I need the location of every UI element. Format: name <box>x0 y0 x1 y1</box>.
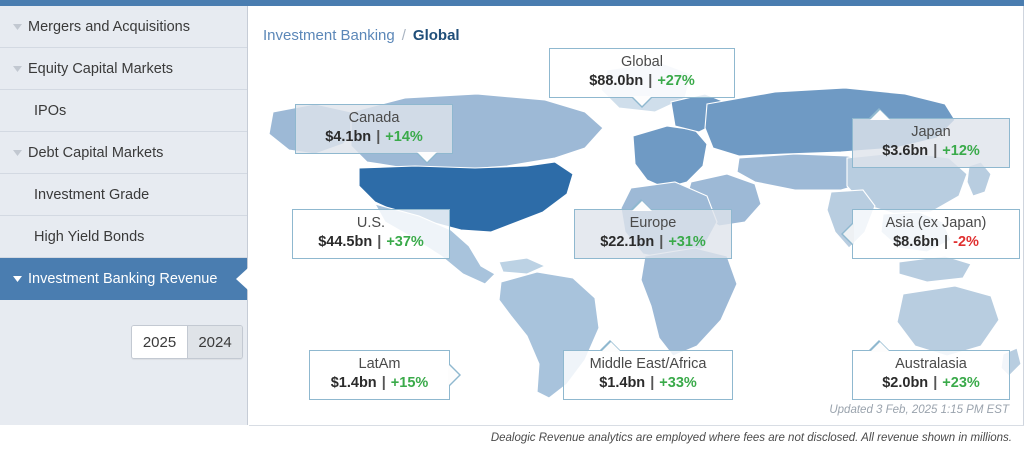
callout-change: +14% <box>385 129 423 145</box>
callout-change: +31% <box>668 234 706 250</box>
callout-region-name: Middle East/Africa <box>578 356 718 375</box>
callout-value: $88.0bn <box>589 73 643 89</box>
breadcrumb-current: Global <box>413 27 460 44</box>
sidebar-item-label: Investment Banking Revenue <box>26 271 217 287</box>
callout-us[interactable]: U.S. $44.5bn | +37% <box>292 209 450 259</box>
callout-region-name: Canada <box>310 110 438 129</box>
callout-latam[interactable]: LatAm $1.4bn | +15% <box>309 350 450 400</box>
callout-pointer-inner <box>632 201 652 211</box>
callout-pointer-inner <box>632 96 652 106</box>
callout-asia-ex-japan[interactable]: Asia (ex Japan) $8.6bn | -2% <box>852 209 1020 259</box>
callout-change: -2% <box>953 234 979 250</box>
callout-region-name: U.S. <box>307 215 435 234</box>
callout-separator: | <box>932 375 938 391</box>
sidebar-item-debt-capital-markets[interactable]: Debt Capital Markets <box>0 132 247 174</box>
chevron-down-icon <box>8 24 26 30</box>
callout-pointer-inner <box>870 110 890 120</box>
footer-note: Dealogic Revenue analytics are employed … <box>491 432 1012 444</box>
callout-separator: | <box>375 129 381 145</box>
callout-separator: | <box>376 234 382 250</box>
callout-value: $22.1bn <box>600 234 654 250</box>
sidebar-item-label: Equity Capital Markets <box>26 61 173 77</box>
updated-timestamp: Updated 3 Feb, 2025 1:15 PM EST <box>829 404 1009 416</box>
callout-separator: | <box>658 234 664 250</box>
callout-change: +23% <box>942 375 980 391</box>
sidebar-item-ipos[interactable]: IPOs <box>0 90 247 132</box>
map-region-western-europe <box>633 126 707 188</box>
chevron-down-icon <box>8 66 26 72</box>
sidebar-item-high-yield-bonds[interactable]: High Yield Bonds <box>0 216 247 258</box>
callout-japan[interactable]: Japan $3.6bn | +12% <box>852 118 1010 168</box>
breadcrumb-separator: / <box>402 27 406 44</box>
callout-pointer-inner <box>448 364 459 386</box>
sidebar-item-investment-banking-revenue[interactable]: Investment Banking Revenue <box>0 258 247 300</box>
callout-region-name: Europe <box>589 215 717 234</box>
sidebar-item-label: Mergers and Acquisitions <box>26 19 190 35</box>
year-button-2024[interactable]: 2024 <box>187 326 242 358</box>
sidebar-item-investment-grade[interactable]: Investment Grade <box>0 174 247 216</box>
callout-region-name: Asia (ex Japan) <box>867 215 1005 234</box>
sidebar-item-label: IPOs <box>0 103 66 119</box>
callout-pointer-inner <box>870 342 890 352</box>
callout-change: +15% <box>391 375 429 391</box>
callout-change: +33% <box>659 375 697 391</box>
revenue-dashboard: Mergers and Acquisitions Equity Capital … <box>0 0 1024 451</box>
sidebar-item-mergers-and-acquisitions[interactable]: Mergers and Acquisitions <box>0 6 247 48</box>
sidebar-nav: Mergers and Acquisitions Equity Capital … <box>0 6 248 425</box>
callout-pointer-inner <box>417 152 437 162</box>
callout-middle-east-africa[interactable]: Middle East/Africa $1.4bn | +33% <box>563 350 733 400</box>
callout-separator: | <box>649 375 655 391</box>
footer-divider <box>249 425 1024 426</box>
callout-value: $3.6bn <box>882 143 928 159</box>
year-button-2025[interactable]: 2025 <box>132 326 187 358</box>
callout-separator: | <box>932 143 938 159</box>
callout-separator: | <box>647 73 653 89</box>
callout-separator: | <box>381 375 387 391</box>
callout-change: +27% <box>657 73 695 89</box>
sidebar-item-label: Debt Capital Markets <box>26 145 163 161</box>
callout-region-name: LatAm <box>324 356 435 375</box>
map-region-sub-saharan-africa <box>641 248 737 356</box>
chevron-down-icon <box>8 276 26 282</box>
callout-value: $2.0bn <box>882 375 928 391</box>
callout-region-name: Global <box>564 54 720 73</box>
callout-global[interactable]: Global $88.0bn | +27% <box>549 48 735 98</box>
callout-change: +37% <box>386 234 424 250</box>
map-region-indonesia <box>899 256 971 282</box>
sidebar-item-label: High Yield Bonds <box>0 229 144 245</box>
callout-pointer-inner <box>843 223 854 245</box>
chevron-down-icon <box>8 150 26 156</box>
sidebar-item-equity-capital-markets[interactable]: Equity Capital Markets <box>0 48 247 90</box>
breadcrumb: Investment Banking / Global <box>263 27 460 44</box>
callout-canada[interactable]: Canada $4.1bn | +14% <box>295 104 453 154</box>
callout-value: $8.6bn <box>893 234 939 250</box>
callout-value: $4.1bn <box>325 129 371 145</box>
callout-separator: | <box>943 234 949 250</box>
breadcrumb-root-link[interactable]: Investment Banking <box>263 27 395 44</box>
callout-region-name: Australasia <box>867 356 995 375</box>
callout-europe[interactable]: Europe $22.1bn | +31% <box>574 209 732 259</box>
callout-value: $1.4bn <box>599 375 645 391</box>
callout-australasia[interactable]: Australasia $2.0bn | +23% <box>852 350 1010 400</box>
map-region-caribbean <box>499 258 545 274</box>
sidebar-item-label: Investment Grade <box>0 187 149 203</box>
callout-value: $1.4bn <box>331 375 377 391</box>
callout-pointer-inner <box>601 342 621 352</box>
year-toggle[interactable]: 2025 2024 <box>131 325 243 359</box>
main-panel: Investment Banking / Global <box>249 6 1024 425</box>
callout-value: $44.5bn <box>318 234 372 250</box>
map-region-australia <box>897 286 999 356</box>
callout-change: +12% <box>942 143 980 159</box>
callout-region-name: Japan <box>867 124 995 143</box>
